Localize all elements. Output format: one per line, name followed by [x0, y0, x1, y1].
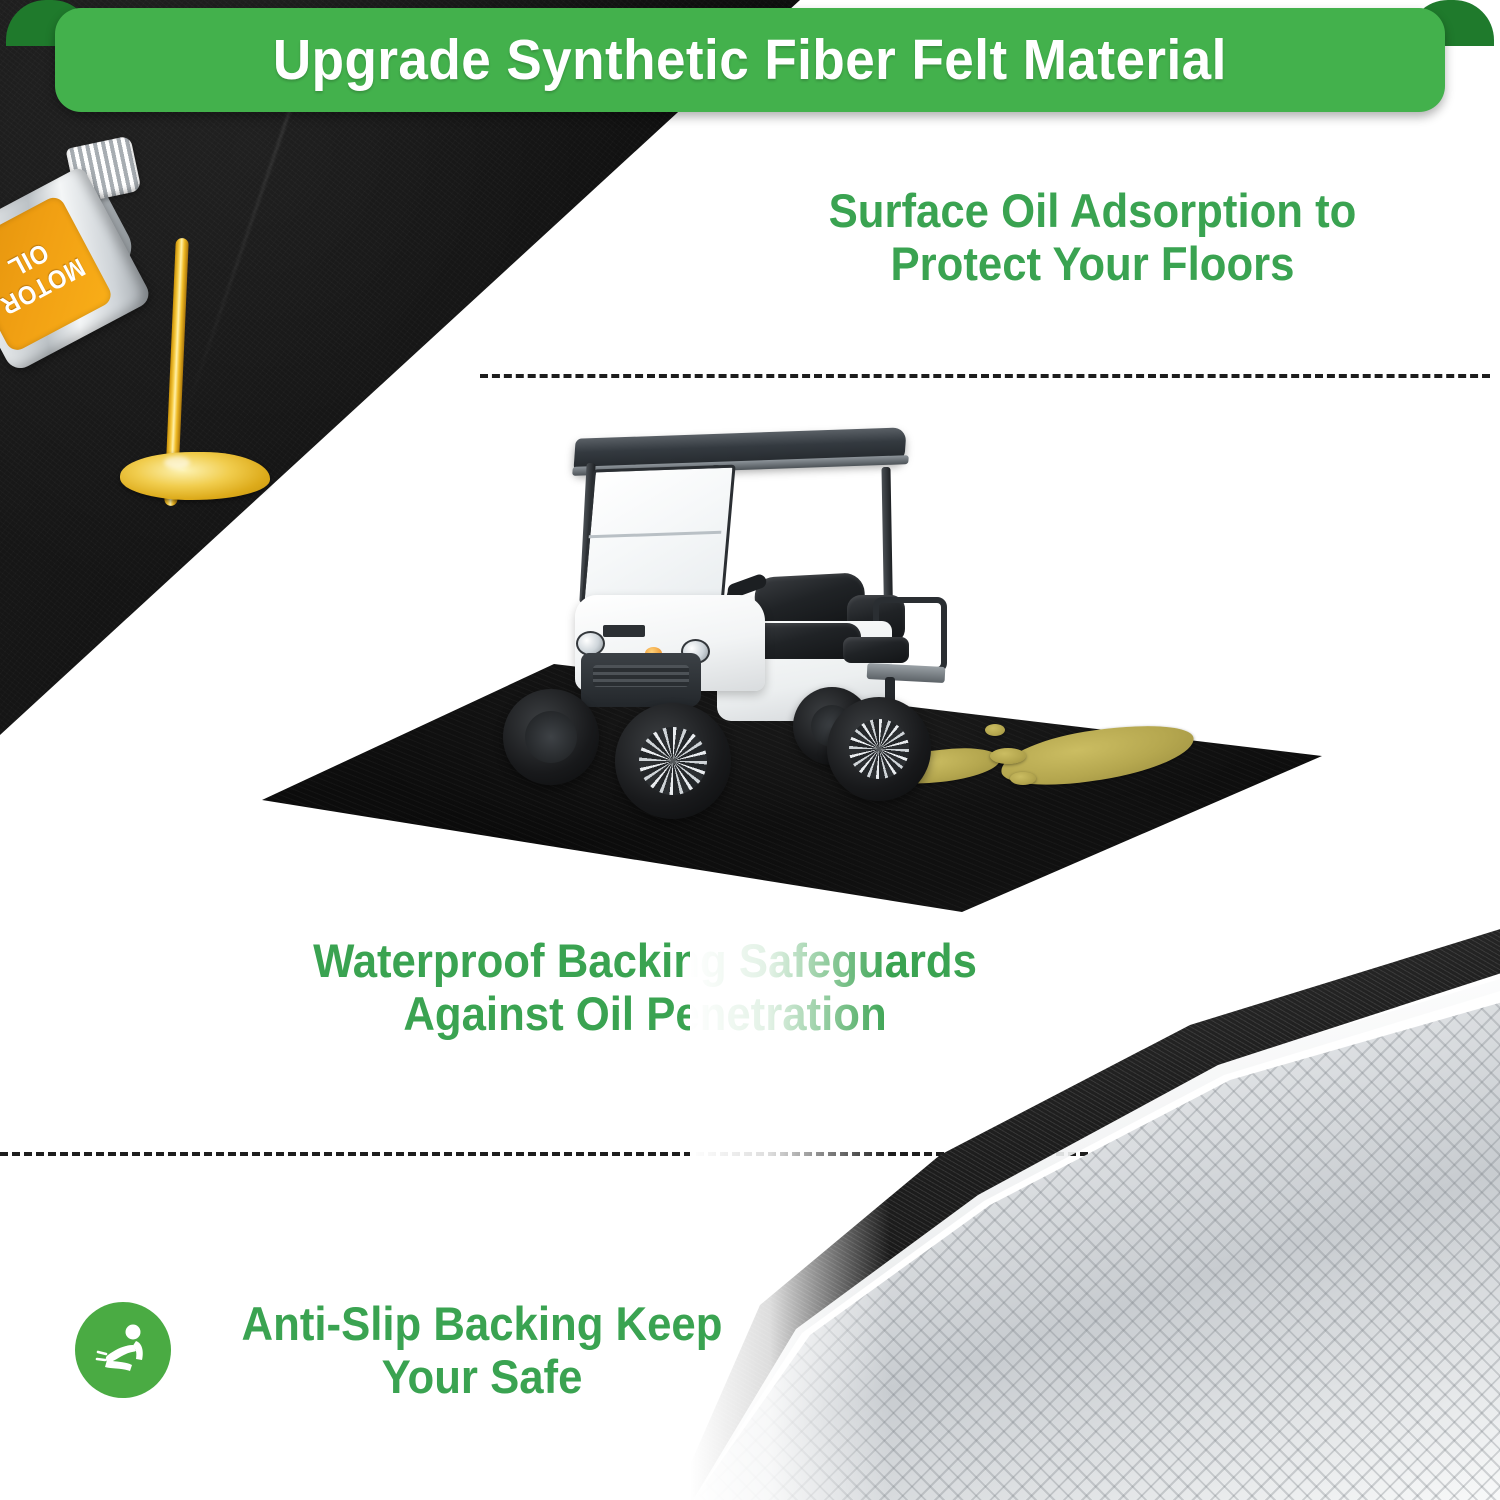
- oil-puddle: [120, 452, 270, 500]
- feature-heading-surface-oil-adsorption: Surface Oil Adsorption to Protect Your F…: [760, 185, 1425, 290]
- oil-spill-droplet: [990, 748, 1026, 764]
- divider-top: [480, 374, 1490, 378]
- material-closeup-image: [690, 905, 1500, 1500]
- oil-spill-droplet: [985, 724, 1005, 736]
- golf-cart-image: [455, 425, 925, 825]
- bottle-label: MOTOR OIL: [0, 194, 115, 354]
- cart-tire-rear-right: [827, 697, 931, 801]
- cart-grille-slot: [593, 665, 689, 687]
- slip-hazard-icon: [75, 1302, 171, 1398]
- cart-tire-front-left: [503, 689, 599, 785]
- feature-heading-anti-slip-backing: Anti-Slip Backing Keep Your Safe: [210, 1298, 755, 1403]
- cart-rim: [849, 719, 909, 779]
- cart-rim: [639, 727, 707, 795]
- header-banner: Upgrade Synthetic Fiber Felt Material: [55, 8, 1445, 112]
- cart-nameplate: [603, 625, 645, 637]
- cart-rear-seat-cushion: [843, 637, 909, 663]
- cart-windshield: [580, 465, 735, 616]
- oil-spill-droplet: [1010, 772, 1036, 785]
- felt-crease: [183, 105, 293, 418]
- feature-anti-slip-backing: Anti-Slip Backing Keep Your Safe: [75, 1298, 775, 1403]
- cart-rim: [525, 711, 577, 763]
- product-infographic: MOTOR OIL Upgrade Synthetic Fiber Felt M…: [0, 0, 1500, 1500]
- page-title: Upgrade Synthetic Fiber Felt Material: [273, 27, 1227, 93]
- cart-tire-front-right: [615, 703, 731, 819]
- closeup-fade-mask: [690, 905, 890, 1500]
